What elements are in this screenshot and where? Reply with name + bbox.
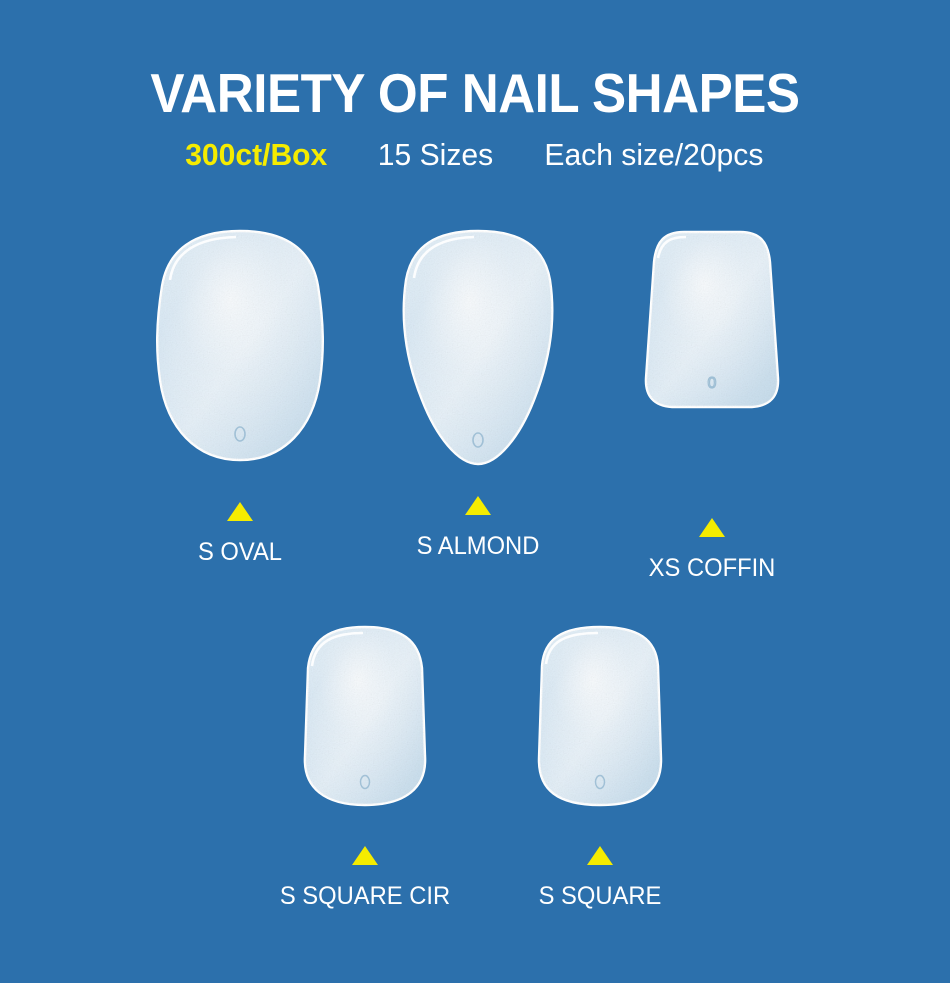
nail-frost-almond [404, 231, 553, 464]
page-title: VARIETY OF NAIL SHAPES [33, 0, 917, 124]
poster-header: VARIETY OF NAIL SHAPES 300ct/Box 15 Size… [0, 0, 950, 174]
nail-tip-s-square[interactable] [500, 624, 700, 814]
nail-frost-oval [157, 231, 323, 460]
triangle-up-marker [465, 496, 491, 515]
triangle-up-marker [352, 846, 378, 865]
subtitle-row: 300ct/Box 15 Sizes Each size/20pcs [0, 124, 950, 174]
nail-frost-square [539, 627, 661, 805]
shape-label-xs-coffin: XS COFFIN [617, 553, 807, 583]
shape-label-s-oval: S OVAL [145, 537, 335, 567]
shape-cell-s-square[interactable]: S SQUARE [500, 624, 700, 911]
triangle-up-marker [699, 518, 725, 537]
triangle-up-marker [227, 502, 253, 521]
shape-cell-s-oval[interactable]: S OVAL [140, 228, 340, 567]
shape-label-s-square-cir: S SQUARE CIR [270, 881, 460, 911]
nail-tip-s-oval[interactable] [140, 228, 340, 468]
triangle-up-marker [587, 846, 613, 865]
nail-tip-s-square-cir[interactable] [265, 624, 465, 814]
subtitle-sizes: 15 Sizes [378, 136, 493, 174]
nail-shapes-poster: VARIETY OF NAIL SHAPES 300ct/Box 15 Size… [0, 0, 950, 983]
shape-cell-xs-coffin[interactable]: 0 XS COFFIN [612, 228, 812, 583]
shape-label-s-square: S SQUARE [505, 881, 695, 911]
shape-label-s-almond: S ALMOND [383, 531, 573, 561]
shape-cell-s-almond[interactable]: S ALMOND [378, 228, 578, 561]
nail-tip-xs-coffin[interactable]: 0 [612, 228, 812, 468]
nail-tip-s-almond[interactable] [378, 228, 578, 468]
size-stamp-coffin: 0 [708, 375, 717, 392]
subtitle-count: 300ct/Box [186, 136, 328, 174]
nail-frost-square-cir [305, 627, 425, 805]
shape-cell-s-square-cir[interactable]: S SQUARE CIR [265, 624, 465, 911]
subtitle-per-size: Each size/20pcs [544, 136, 763, 174]
